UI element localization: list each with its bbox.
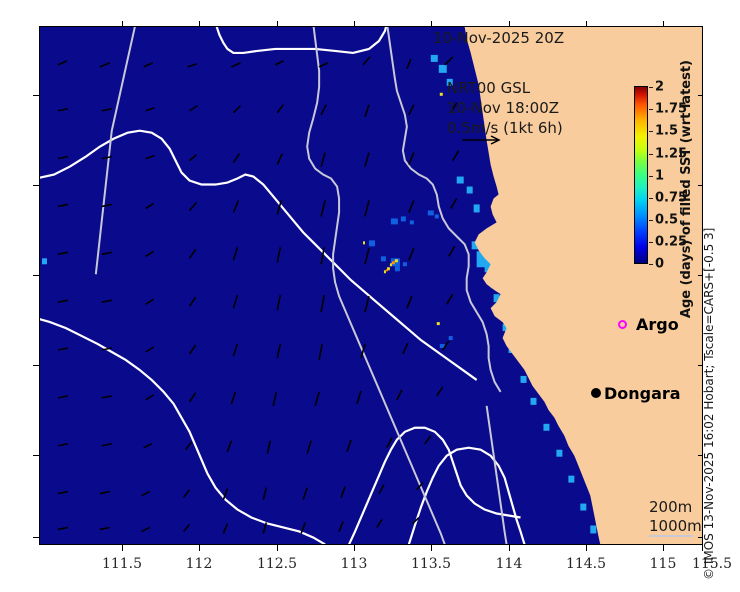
depth-legend-1000m-swatch xyxy=(649,535,693,537)
colorbar-tick-label: 0.5 xyxy=(655,213,678,228)
datestamp-annotation: 10-Nov-2025 20Z xyxy=(433,29,564,47)
current-velocity-vectors xyxy=(40,27,702,544)
credit-text: © IMOS 13-Nov-2025 16:02 Hobart; Tscale=… xyxy=(702,228,716,580)
colorbar-gradient xyxy=(634,86,648,264)
depth-legend-200m-label: 200m xyxy=(649,498,702,517)
colorbar-tick-label: 0 xyxy=(655,257,664,272)
current-product-label: NRT00 GSL xyxy=(447,78,563,98)
depth-legend-1000m-label: 1000m xyxy=(649,517,702,536)
x-tick-label: 112.5 xyxy=(257,556,297,572)
colorbar-tick-label: 1 xyxy=(655,169,664,184)
x-tick-label: 115 xyxy=(650,556,677,572)
dongara-marker-icon xyxy=(591,388,601,398)
dongara-label: Dongara xyxy=(604,384,681,403)
colorbar-tick-label: 2 xyxy=(655,80,664,95)
velocity-scale-arrow-icon xyxy=(460,133,504,147)
colorbar-tick-label: 1.5 xyxy=(655,124,678,139)
argo-marker-icon xyxy=(618,320,627,329)
current-validtime-label: 10-Nov 18:00Z xyxy=(447,98,563,118)
figure-canvas: 10-Nov-2025 20Z NRT00 GSL 10-Nov 18:00Z … xyxy=(0,0,740,592)
x-tick-label: 111.5 xyxy=(102,556,142,572)
x-tick-label: 114.5 xyxy=(566,556,606,572)
current-legend-block: NRT00 GSL 10-Nov 18:00Z 0.5m/s (1kt 6h) xyxy=(447,78,563,138)
x-tick-label: 112 xyxy=(186,556,213,572)
argo-legend-label: Argo xyxy=(636,315,679,334)
x-tick-label: 113 xyxy=(341,556,368,572)
x-tick-label: 114 xyxy=(496,556,523,572)
colorbar-axis-title: Age (days) of filled SST (wrt latest) xyxy=(679,60,694,318)
x-tick-label: 113.5 xyxy=(411,556,451,572)
colorbar: 2 1.75 1.5 1.25 1 0.75 0.5 0.25 0 xyxy=(634,86,648,264)
map-plot-area: 10-Nov-2025 20Z NRT00 GSL 10-Nov 18:00Z … xyxy=(39,26,703,545)
depth-contour-legend: 200m 1000m xyxy=(649,498,702,536)
